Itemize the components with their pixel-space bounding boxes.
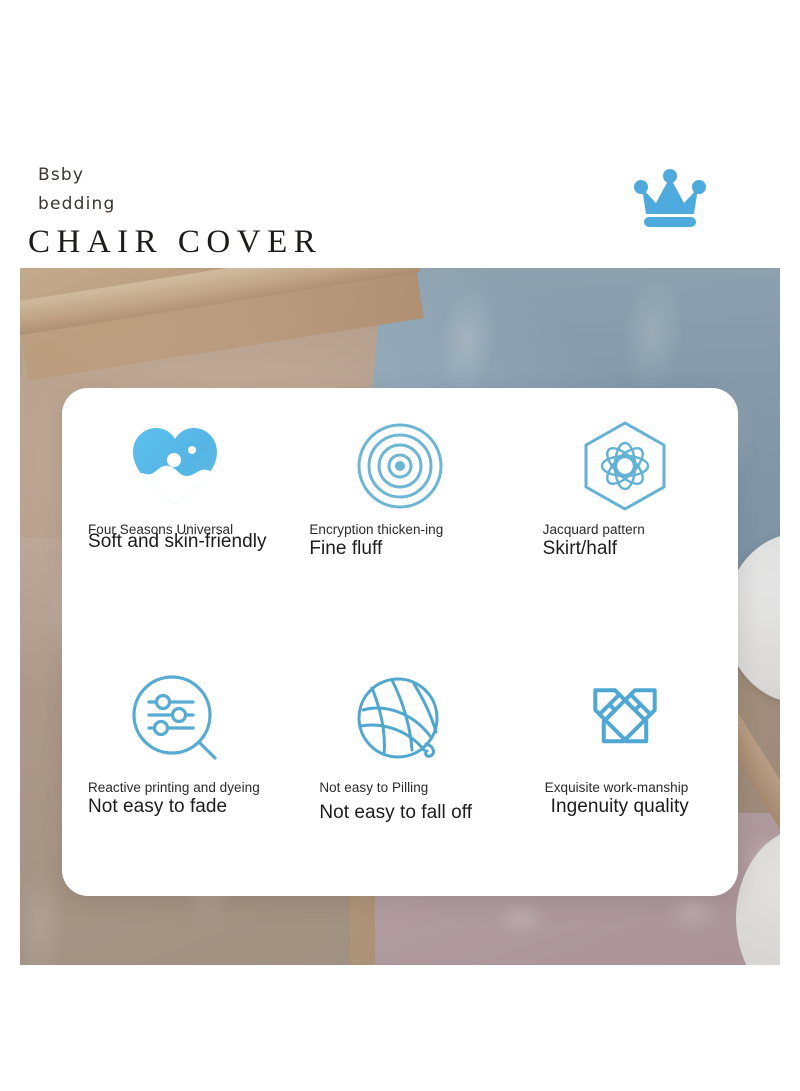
brand-line-1: Bsby xyxy=(38,165,84,185)
feature-text: Four Seasons Universal Soft and skin-fri… xyxy=(62,522,287,553)
page-footer-whitespace xyxy=(0,965,800,1091)
feature-subtitle: Reactive printing and dyeing xyxy=(88,780,269,795)
feature-item-four-seasons: Four Seasons Universal Soft and skin-fri… xyxy=(62,388,287,642)
concentric-circles-icon xyxy=(356,422,444,510)
crown-logo xyxy=(630,168,710,230)
feature-text: Jacquard pattern Skirt/half xyxy=(513,522,738,560)
feature-grid: Four Seasons Universal Soft and skin-fri… xyxy=(62,388,738,896)
feature-text: Not easy to Pilling Not easy to fall off xyxy=(287,780,512,824)
feature-text: Exquisite work-manship Ingenuity quality xyxy=(513,780,738,818)
feature-icon-wrap xyxy=(62,674,287,766)
feature-subtitle: Not easy to Pilling xyxy=(319,780,494,795)
feature-item-encryption-thickening: Encryption thicken-ing Fine fluff xyxy=(287,388,512,642)
feature-label: Fine fluff xyxy=(309,538,494,560)
feature-subtitle: Exquisite work-manship xyxy=(545,780,720,795)
page-title: CHAIR COVER xyxy=(28,224,322,261)
brand-line-2: bedding xyxy=(38,190,116,219)
feature-text: Encryption thicken-ing Fine fluff xyxy=(287,522,512,560)
settings-sliders-magnifier-icon xyxy=(129,674,221,766)
feature-subtitle: Jacquard pattern xyxy=(543,522,720,537)
crown-icon xyxy=(630,168,710,230)
feature-label: Not easy to fade xyxy=(88,796,269,818)
feature-item-jacquard-pattern: Jacquard pattern Skirt/half xyxy=(513,388,738,642)
feature-card: Four Seasons Universal Soft and skin-fri… xyxy=(62,388,738,896)
crossed-pencils-icon xyxy=(577,674,673,766)
feature-label: Soft and skin-friendly xyxy=(88,531,269,553)
feature-text: Reactive printing and dyeing Not easy to… xyxy=(62,780,287,818)
feature-label: Not easy to fall off xyxy=(319,802,494,824)
feature-label: Ingenuity quality xyxy=(545,796,720,818)
feature-icon-wrap xyxy=(513,674,738,766)
feature-item-anti-pilling: Not easy to Pilling Not easy to fall off xyxy=(287,642,512,896)
hexagon-rosette-icon xyxy=(579,420,671,512)
feature-icon-wrap xyxy=(287,674,512,766)
brand-logotype: Bsby bedding xyxy=(38,161,116,219)
page-header: Bsby bedding CHAIR COVER xyxy=(0,0,800,268)
feature-item-exquisite-workmanship: Exquisite work-manship Ingenuity quality xyxy=(513,642,738,896)
feature-icon-wrap xyxy=(287,420,512,512)
feature-item-reactive-printing: Reactive printing and dyeing Not easy to… xyxy=(62,642,287,896)
heart-water-icon xyxy=(129,424,221,508)
feature-label: Skirt/half xyxy=(543,538,720,560)
yarn-ball-icon xyxy=(354,674,446,766)
feature-icon-wrap xyxy=(513,420,738,512)
feature-icon-wrap xyxy=(62,420,287,512)
feature-subtitle: Encryption thicken-ing xyxy=(309,522,494,537)
